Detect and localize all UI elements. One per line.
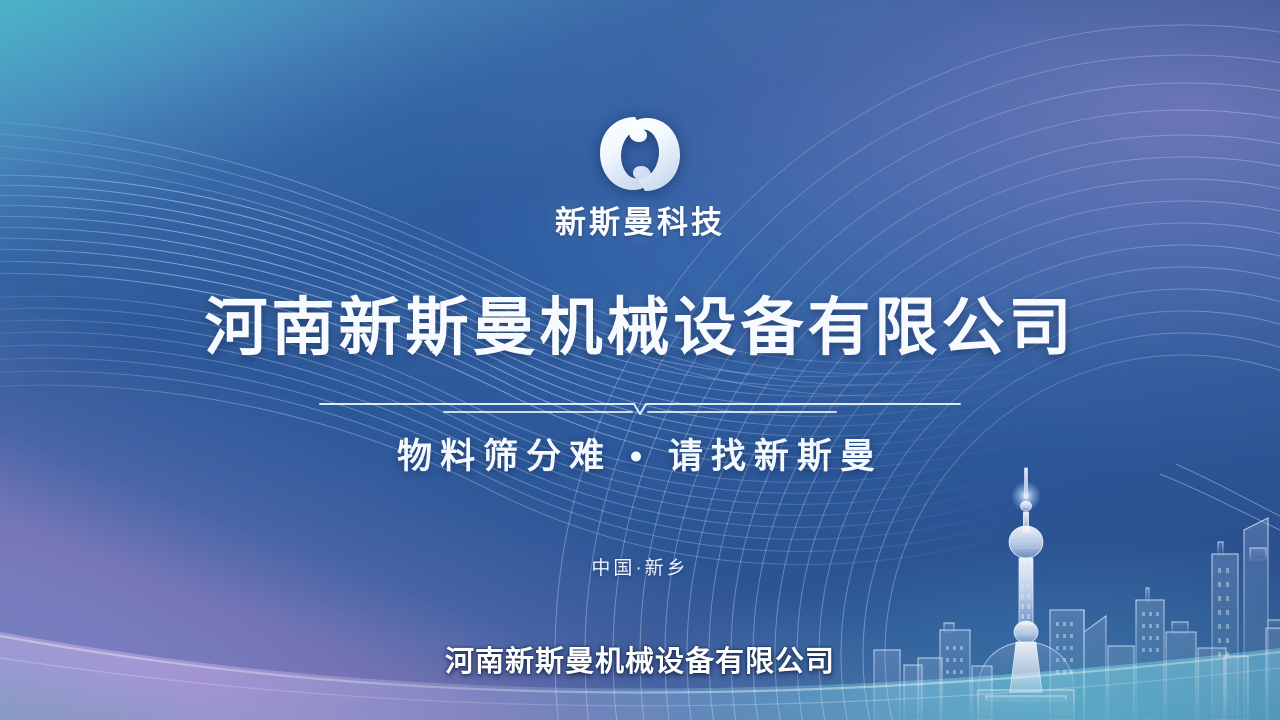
footer-caption: 河南新斯曼机械设备有限公司 [0, 638, 1280, 680]
promotional-banner: 新斯曼科技 河南新斯曼机械设备有限公司 物料筛分难 • 请找新斯曼 中国·新乡 [0, 0, 1280, 720]
background-vignette [0, 0, 1280, 720]
